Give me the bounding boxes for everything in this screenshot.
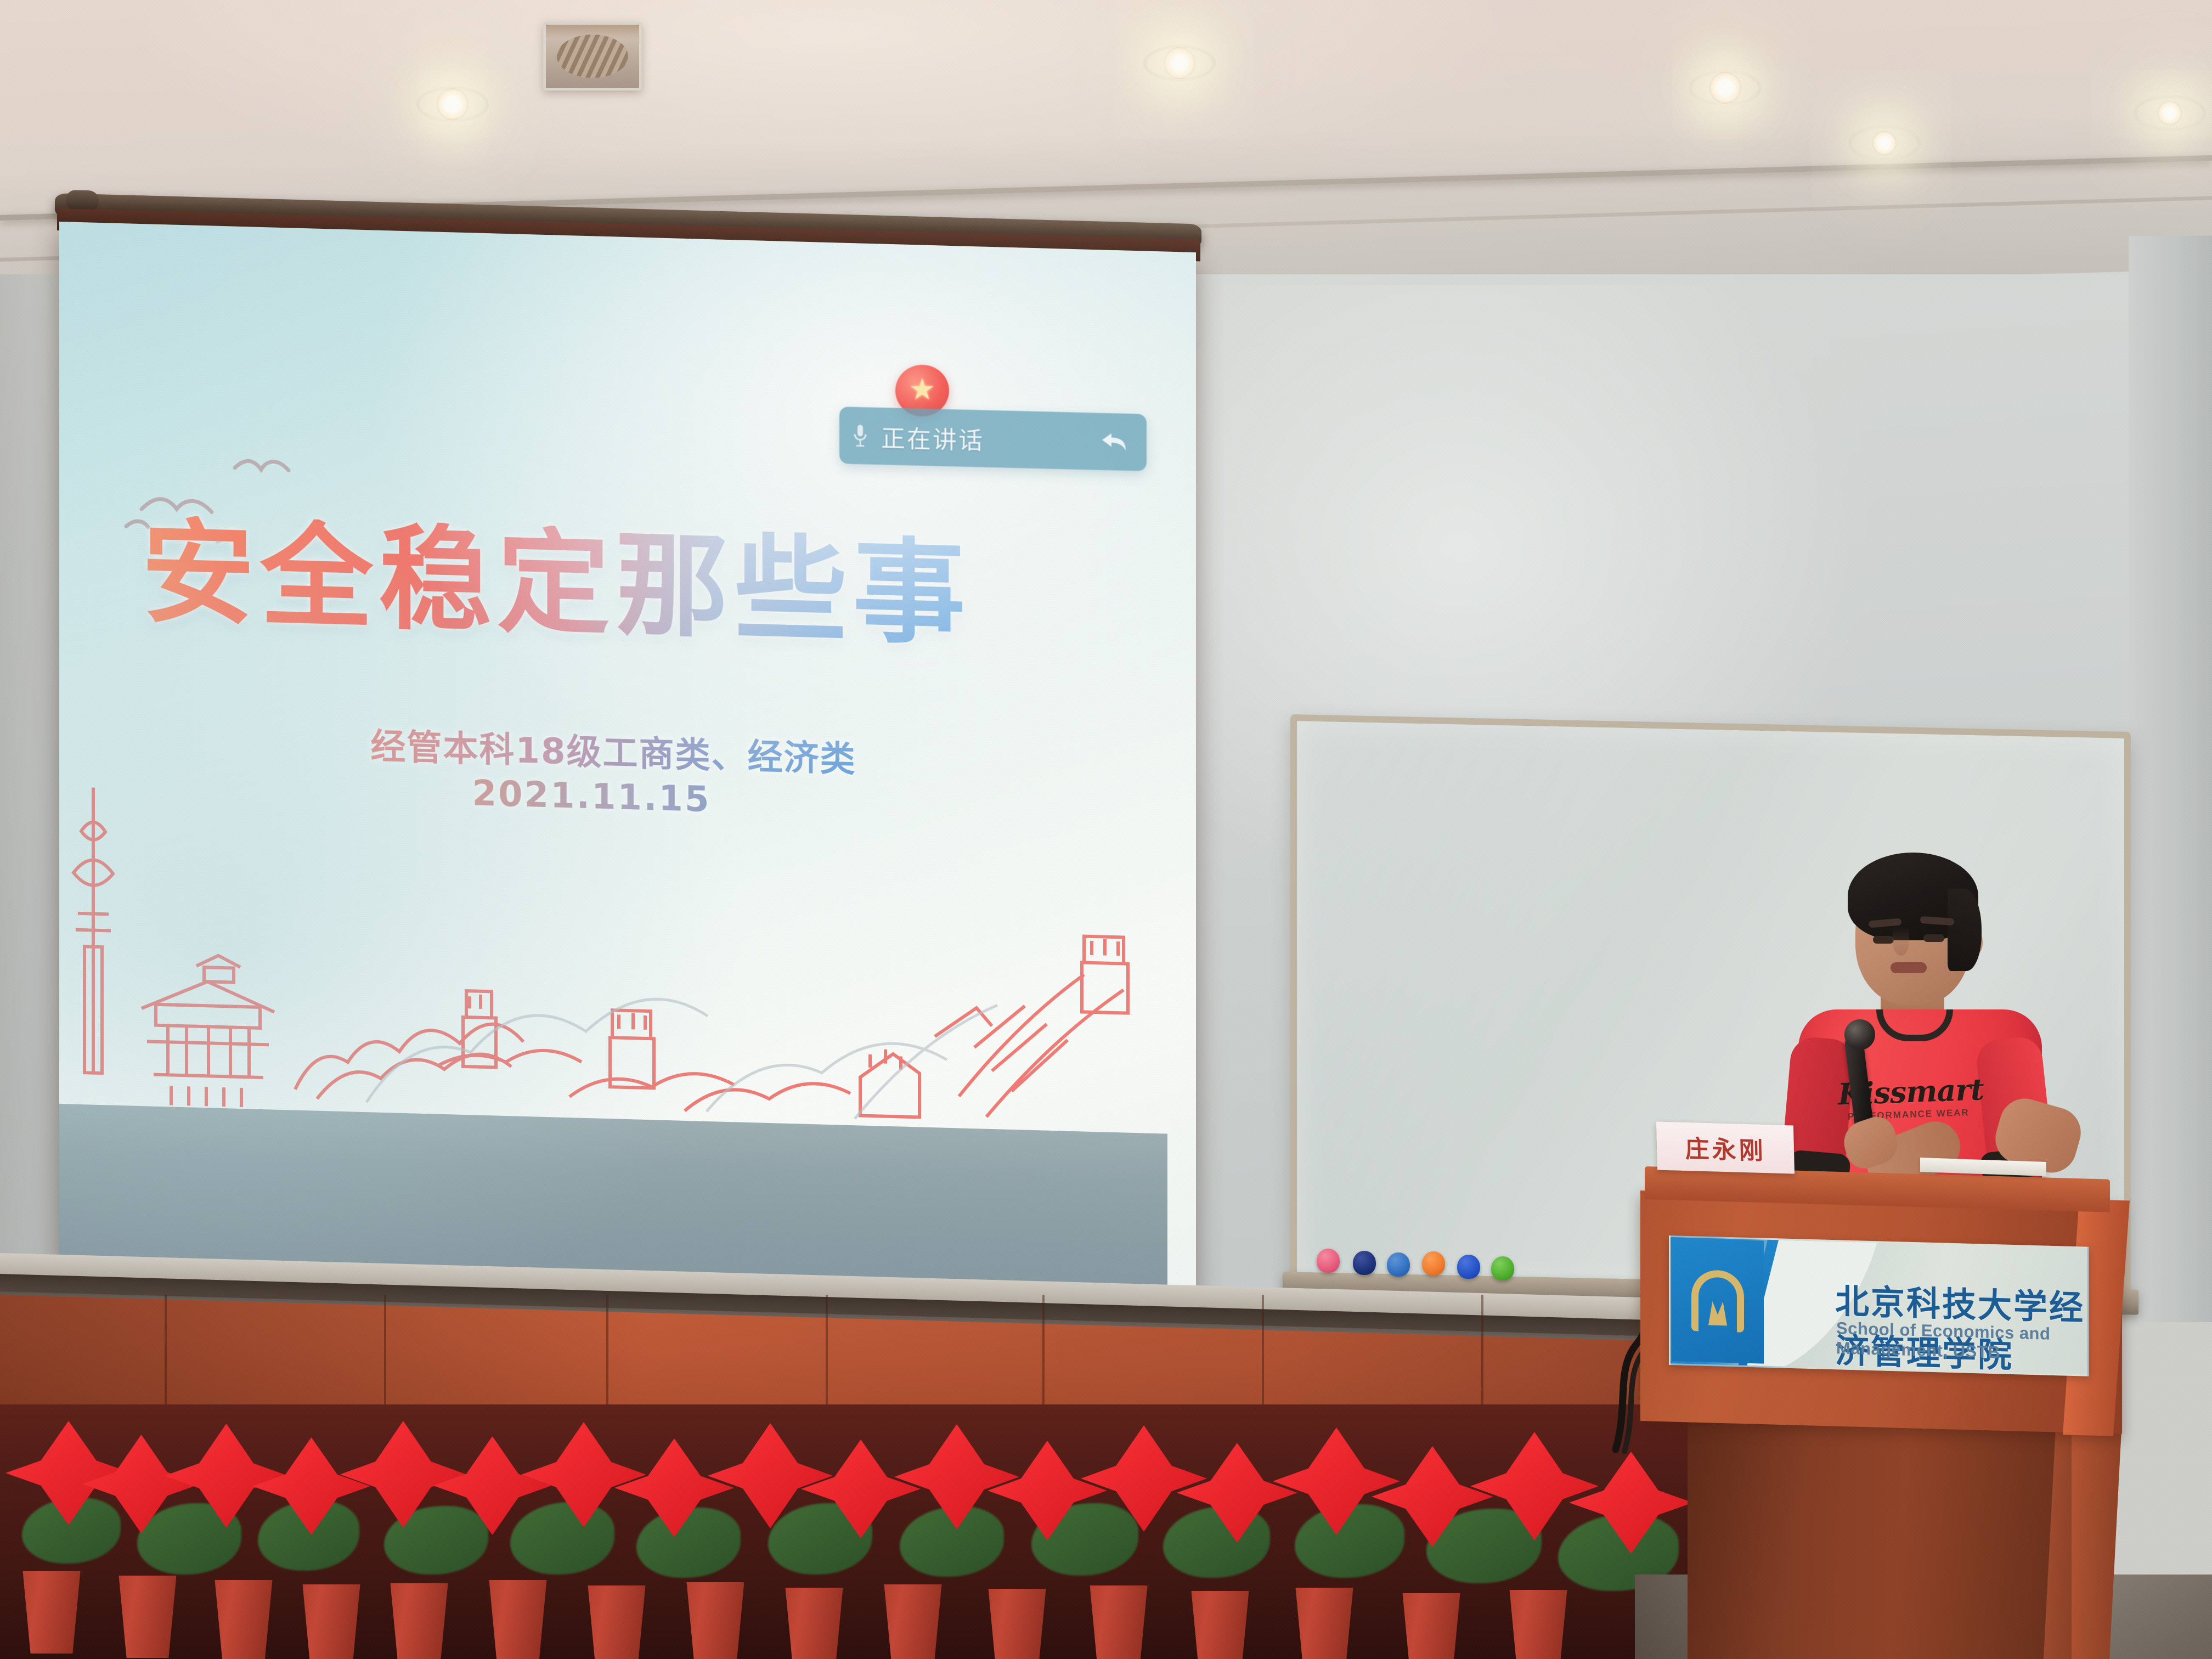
- projection-screen-roller-knob: [66, 190, 99, 212]
- slide-title: 安全稳定那些事: [92, 513, 1102, 656]
- eye-right: [1923, 934, 1944, 942]
- marker-orange[interactable]: [1422, 1251, 1445, 1276]
- podium-body-shading: [1688, 1414, 2072, 1659]
- light-bulb-icon: [2158, 101, 2182, 125]
- logo-arch-mark: [1691, 1269, 1744, 1333]
- marker-navy[interactable]: [1353, 1251, 1376, 1275]
- wall-right-column: [2129, 236, 2212, 1322]
- marker-royal[interactable]: [1457, 1255, 1480, 1279]
- light-bulb-icon: [437, 88, 469, 120]
- projection-screen-surface: 安全稳定那些事 经管本科18级工商类、经济类 2021.11.15: [59, 222, 1196, 1295]
- microphone-icon[interactable]: [839, 424, 881, 448]
- ceiling-spotlight-3: [1690, 71, 1761, 104]
- hair-side: [1948, 889, 1982, 971]
- marker-green[interactable]: [1491, 1256, 1514, 1280]
- speech-status-label: 正在讲话: [881, 419, 984, 456]
- star-glyph-icon: ★: [909, 375, 935, 404]
- beijing-landmarks-illustration: [59, 765, 1167, 1135]
- ceiling-spotlight-5: [2140, 99, 2200, 127]
- ustb-arch-logo-icon: [1672, 1238, 1764, 1364]
- marker-pink[interactable]: [1317, 1249, 1340, 1273]
- ceiling-spotlight-4: [1854, 129, 1915, 157]
- ceiling-spotlight-1: [417, 88, 488, 121]
- speaker-nameplate-text: 庄永刚: [1685, 1129, 1767, 1166]
- mouth: [1891, 962, 1927, 973]
- lecture-hall-photo: 安全稳定那些事 经管本科18级工商类、经济类 2021.11.15: [0, 0, 2212, 1659]
- light-bulb-icon: [1709, 72, 1741, 104]
- podium: 庄永刚 北京科技大学经济管理学院 School of Economics and…: [1635, 1166, 2129, 1659]
- light-bulb-icon: [1872, 131, 1897, 155]
- marker-blue[interactable]: [1387, 1252, 1410, 1277]
- poinsettia-row: [0, 1404, 1701, 1659]
- eye-left: [1873, 936, 1894, 944]
- ceiling-vent-1: [543, 22, 642, 91]
- nose: [1893, 927, 1909, 956]
- ceiling-spotlight-2: [1144, 47, 1215, 80]
- speaker-nameplate: 庄永刚: [1656, 1121, 1795, 1173]
- projection-screen-frame: 安全稳定那些事 经管本科18级工商类、经济类 2021.11.15: [59, 222, 1196, 1295]
- undo-arrow-icon[interactable]: [1101, 430, 1129, 454]
- light-bulb-icon: [1164, 47, 1195, 79]
- podium-sign-english: School of Economics and Management, USTB: [1836, 1318, 2087, 1364]
- podium-institution-sign: 北京科技大学经济管理学院 School of Economics and Man…: [1669, 1235, 2089, 1376]
- speech-status-toolbar[interactable]: 正在讲话: [839, 407, 1147, 471]
